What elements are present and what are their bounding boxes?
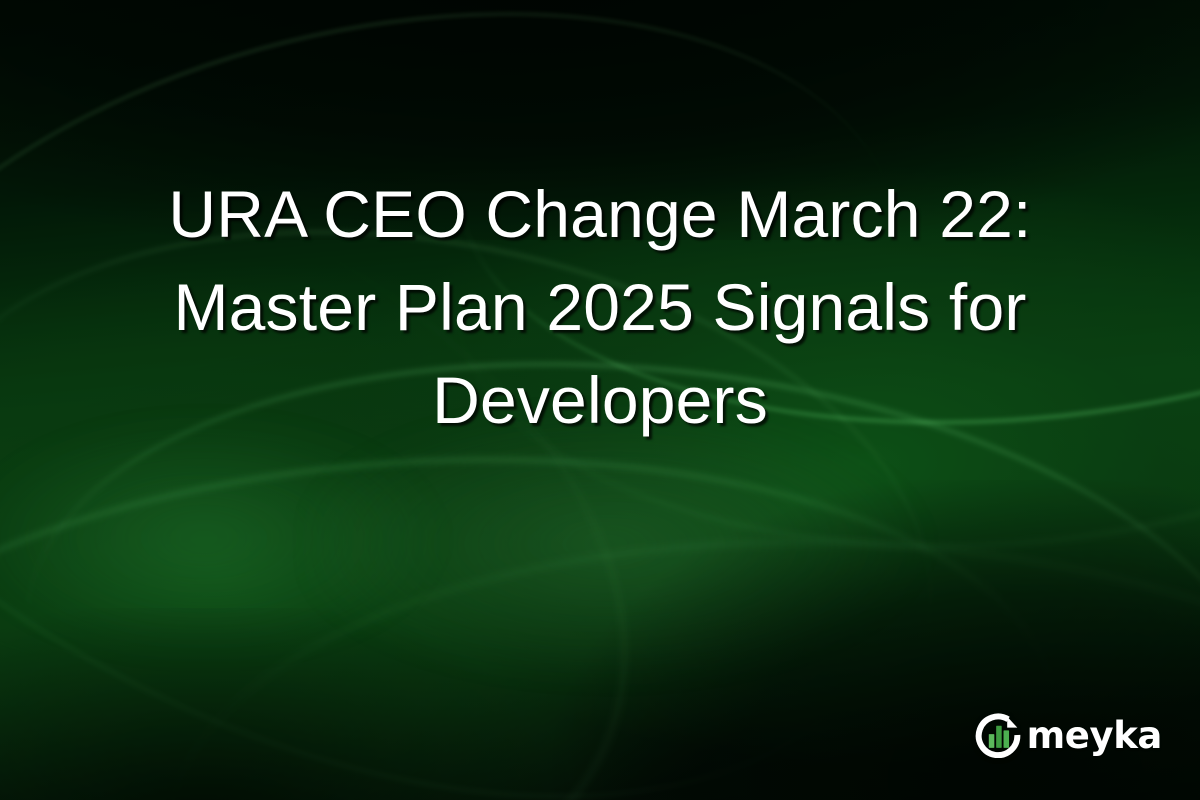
share-banner-card: URA CEO Change March 22: Master Plan 202…: [0, 0, 1200, 800]
headline-container: URA CEO Change March 22: Master Plan 202…: [0, 168, 1200, 447]
brand-logo[interactable]: meyka: [975, 712, 1162, 758]
page-title: URA CEO Change March 22: Master Plan 202…: [70, 168, 1130, 447]
meyka-circle-bars-icon: [975, 712, 1021, 758]
brand-wordmark: meyka: [1027, 717, 1162, 754]
